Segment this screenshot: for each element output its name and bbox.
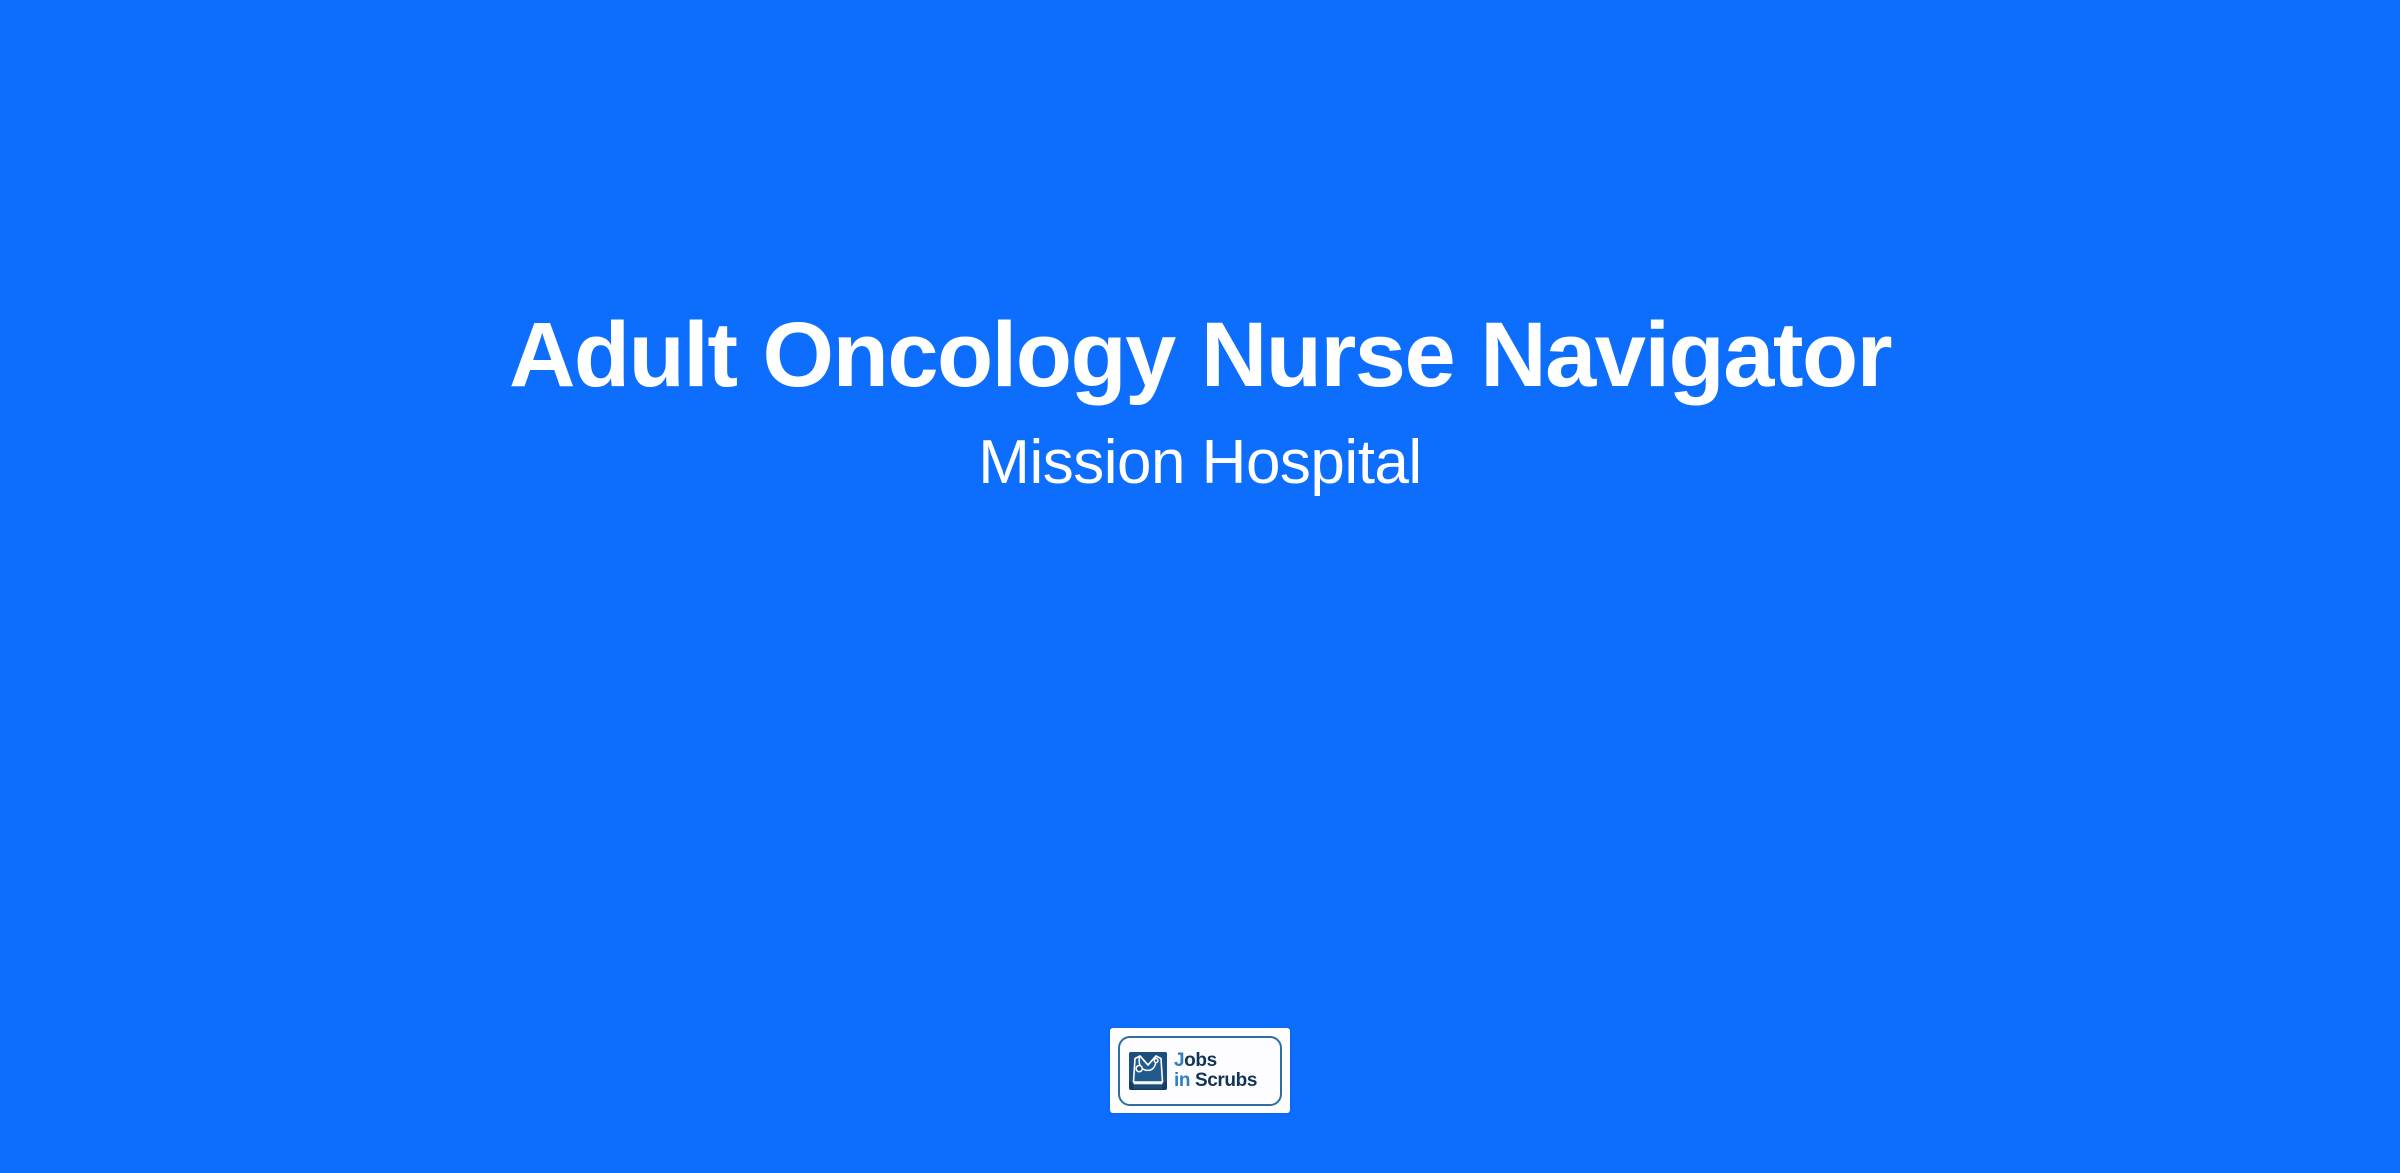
brand-wordmark: Jobs in Scrubs [1174, 1051, 1257, 1091]
scrubs-icon [1129, 1052, 1167, 1090]
wordmark-line-1: Jobs [1174, 1051, 1257, 1071]
wordmark-line2-dark: Scrubs [1195, 1070, 1257, 1091]
job-posting-slide: Adult Oncology Nurse Navigator Mission H… [0, 0, 2400, 1173]
hero-text-block: Adult Oncology Nurse Navigator Mission H… [460, 306, 1940, 499]
employer-name: Mission Hospital [460, 427, 1940, 498]
brand-logo-frame: Jobs in Scrubs [1118, 1036, 1282, 1106]
page-title: Adult Oncology Nurse Navigator [460, 306, 1940, 405]
wordmark-line1-accent: J [1174, 1050, 1184, 1071]
wordmark-line2-accent: in [1174, 1070, 1195, 1091]
brand-logo[interactable]: Jobs in Scrubs [1110, 1028, 1290, 1113]
wordmark-line1-dark: obs [1184, 1050, 1217, 1071]
wordmark-line-2: in Scrubs [1174, 1071, 1257, 1091]
